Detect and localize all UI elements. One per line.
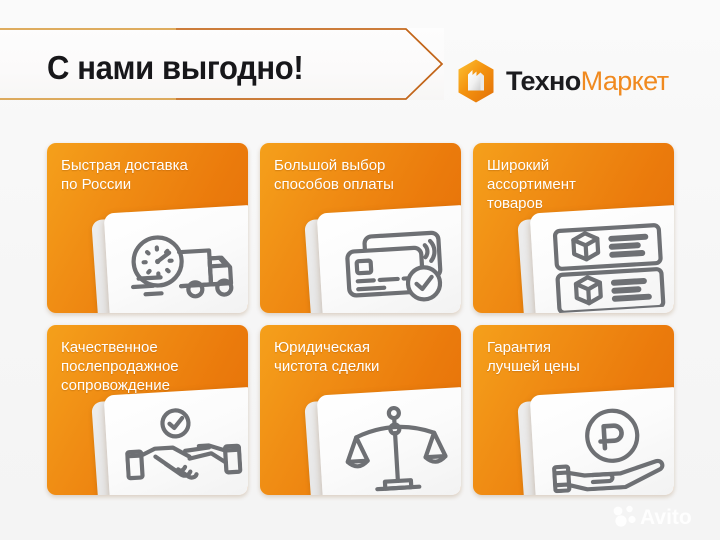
benefit-card-title: Гарантия лучшей цены: [487, 338, 662, 376]
credit-card-contactless-check-icon: [338, 224, 455, 311]
benefit-card-title: Качественное послепродажное сопровождени…: [61, 338, 236, 395]
benefit-card-icon-tile: [104, 387, 248, 495]
benefit-card-icon-tile: [317, 205, 461, 313]
clock-truck-delivery-icon: [120, 226, 246, 307]
brand-logo[interactable]: ТехноМаркет: [455, 58, 668, 104]
handshake-check-icon: [123, 404, 244, 495]
benefit-card-best-price[interactable]: Гарантия лучшей цены: [473, 325, 674, 495]
benefit-card-icon-tile: [530, 387, 674, 495]
benefit-card-assortment[interactable]: Широкий ассортимент товаров: [473, 143, 674, 313]
benefit-card-title: Быстрая доставка по России: [61, 156, 236, 194]
benefit-card-icon-tile: [104, 205, 248, 313]
justice-scales-icon: [342, 402, 449, 495]
benefit-card-title: Юридическая чистота сделки: [274, 338, 449, 376]
brand-name-part-1: Техно: [506, 66, 581, 96]
benefit-card-title: Большой выбор способов оплаты: [274, 156, 449, 194]
avito-dots-icon: Avito: [612, 503, 708, 529]
product-catalog-list-icon: [549, 221, 670, 313]
brand-logo-text: ТехноМаркет: [506, 68, 668, 95]
benefit-card-icon-tile: [317, 387, 461, 495]
avito-watermark: Avito: [612, 503, 708, 529]
page-title: С нами выгодно!: [47, 51, 303, 84]
benefit-card-payment[interactable]: Большой выбор способов оплаты: [260, 143, 461, 313]
benefit-card-delivery[interactable]: Быстрая доставка по России: [47, 143, 248, 313]
promo-banner-canvas: С нами выгодно!: [0, 0, 720, 540]
benefit-card-title: Широкий ассортимент товаров: [487, 156, 662, 213]
svg-text:Avito: Avito: [640, 506, 692, 529]
hand-holding-ruble-coin-icon: [549, 405, 670, 494]
benefit-card-aftersales[interactable]: Качественное послепродажное сопровождени…: [47, 325, 248, 495]
benefit-card-icon-tile: [530, 205, 674, 313]
hexagon-building-logo-icon: [455, 58, 497, 104]
benefit-card-legal[interactable]: Юридическая чистота сделки: [260, 325, 461, 495]
benefits-grid: Быстрая доставка по России: [47, 143, 673, 493]
header: С нами выгодно!: [0, 18, 720, 110]
brand-name-part-2: Маркет: [581, 66, 669, 96]
